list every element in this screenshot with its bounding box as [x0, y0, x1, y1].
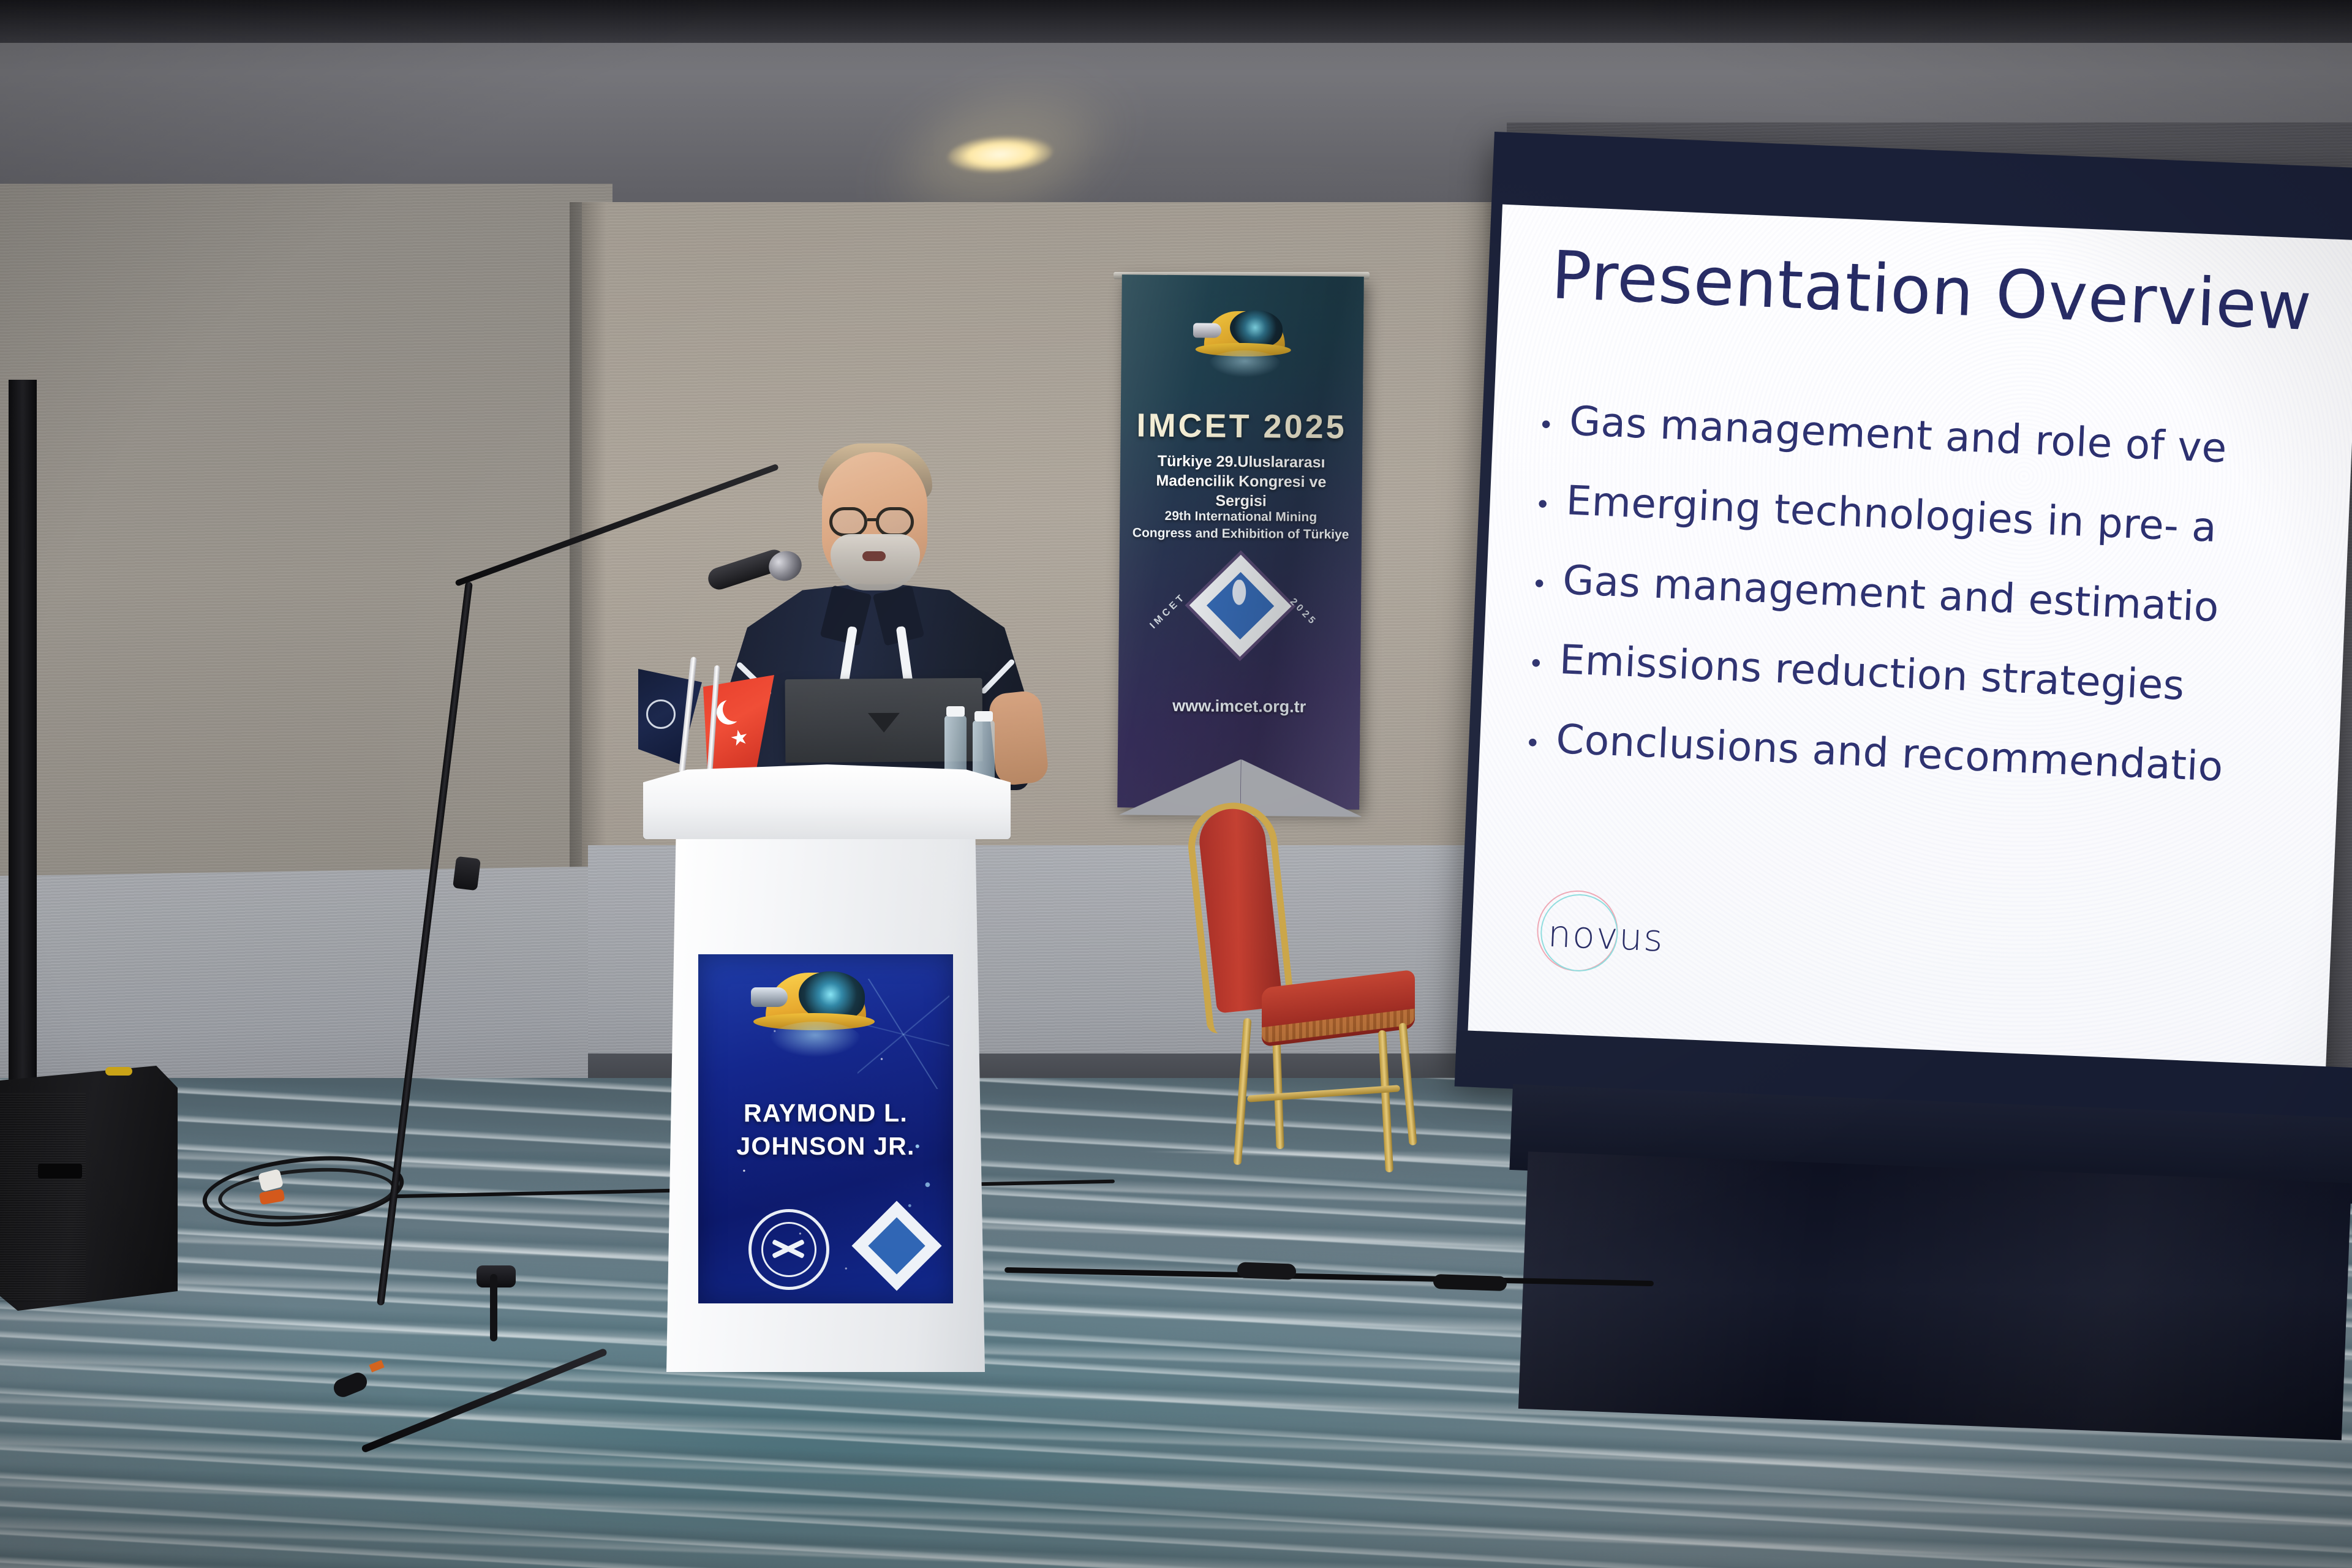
banner-subtitle-en-line2: Congress and Exhibition of Türkiye — [1129, 524, 1352, 543]
banner-title: IMCET 2025 — [1120, 406, 1363, 446]
podium: RAYMOND L. JOHNSON JR. — [643, 764, 1011, 1371]
podium-name-sign: RAYMOND L. JOHNSON JR. — [698, 954, 953, 1303]
speaker-name: RAYMOND L. JOHNSON JR. — [698, 1096, 953, 1163]
banner-subtitle-tr-line2: Madencilik Kongresi ve Sergisi — [1129, 470, 1352, 511]
glasses-bridge — [867, 518, 878, 521]
microphone-stand-clutch[interactable] — [453, 856, 481, 891]
pa-speaker-tab — [105, 1067, 132, 1076]
banner-subtitle-turkish: Türkiye 29.Uluslararası Madencilik Kongr… — [1129, 451, 1352, 511]
cable-bundle-secondary — [1433, 1274, 1507, 1291]
novus-logo-text: novus — [1547, 913, 1665, 960]
tmmob-logo-icon — [748, 1209, 829, 1290]
pa-speaker-grille — [0, 1093, 86, 1302]
speaker-stand-pole — [9, 380, 37, 1084]
bullet-dot-icon: • — [1537, 489, 1567, 519]
cable-bundle — [1237, 1262, 1297, 1280]
list-item: • Conclusions and recommendatio — [1527, 714, 2352, 800]
slide-bullet-text: Emerging technologies in pre- a — [1565, 477, 2217, 551]
glasses-icon-left — [829, 507, 867, 537]
banquet-chair — [1188, 802, 1445, 1170]
slide-bullet-list: • Gas management and role of ve • Emergi… — [1526, 396, 2352, 832]
banner-diamond-label-left: IMCET — [1148, 591, 1188, 631]
slide-bullet-text: Conclusions and recommendatio — [1555, 715, 2224, 791]
banner-subtitle-en-line1: 29th International Mining — [1129, 507, 1352, 526]
presenter-mouth — [862, 551, 886, 561]
laptop-brand-mark-icon — [868, 713, 900, 733]
bullet-dot-icon: • — [1534, 568, 1563, 598]
bullet-dot-icon: • — [1531, 648, 1560, 677]
banner-diamond-label-right: 2025 — [1287, 597, 1319, 628]
banner-subtitle-tr-line1: Türkiye 29.Uluslararası — [1130, 451, 1352, 472]
microphone-tripod-base — [429, 1274, 563, 1333]
tmmob-flag-emblem-icon — [646, 699, 676, 729]
imcet-diamond-logo-icon — [1189, 555, 1291, 657]
imcet-banner: IMCET 2025 Türkiye 29.Uluslararası Maden… — [1117, 274, 1364, 809]
list-item: • Gas management and estimatio — [1534, 555, 2352, 641]
banner-subtitle-english: 29th International Mining Congress and E… — [1129, 507, 1352, 543]
conference-room-photo: IMCET 2025 Türkiye 29.Uluslararası Maden… — [0, 0, 2352, 1568]
slide-title: Presentation Overview — [1550, 237, 2313, 345]
mining-helmet-icon — [1190, 307, 1295, 361]
list-item: • Emissions reduction strategies — [1530, 635, 2352, 720]
presenter-beard — [831, 534, 920, 590]
glasses-icon-right — [876, 507, 914, 537]
bullet-dot-icon: • — [1540, 410, 1570, 439]
podium-top-surface — [643, 764, 1011, 839]
slide-bullet-text: Gas management and estimatio — [1562, 556, 2220, 631]
ceiling-dark-strip — [0, 0, 2352, 43]
list-item: • Gas management and role of ve — [1540, 396, 2352, 482]
stage-riser-skirt — [1518, 1151, 2351, 1440]
slide-bullet-text: Gas management and role of ve — [1569, 398, 2228, 472]
novus-logo-icon: novus — [1514, 877, 1708, 989]
slide-surface: Presentation Overview • Gas management a… — [1468, 205, 2352, 1073]
slide-bullet-text: Emissions reduction strategies — [1558, 636, 2185, 709]
speaker-name-line1: RAYMOND L. — [698, 1096, 953, 1129]
speaker-name-line2: JOHNSON JR. — [698, 1129, 953, 1163]
banner-website-url: www.imcet.org.tr — [1118, 696, 1360, 717]
list-item: • Emerging technologies in pre- a — [1537, 476, 2352, 562]
mining-helmet-icon — [750, 969, 878, 1038]
pa-speaker-handle — [38, 1164, 82, 1178]
bullet-dot-icon: • — [1527, 728, 1556, 757]
projection-screen: Presentation Overview • Gas management a… — [1455, 132, 2351, 1122]
